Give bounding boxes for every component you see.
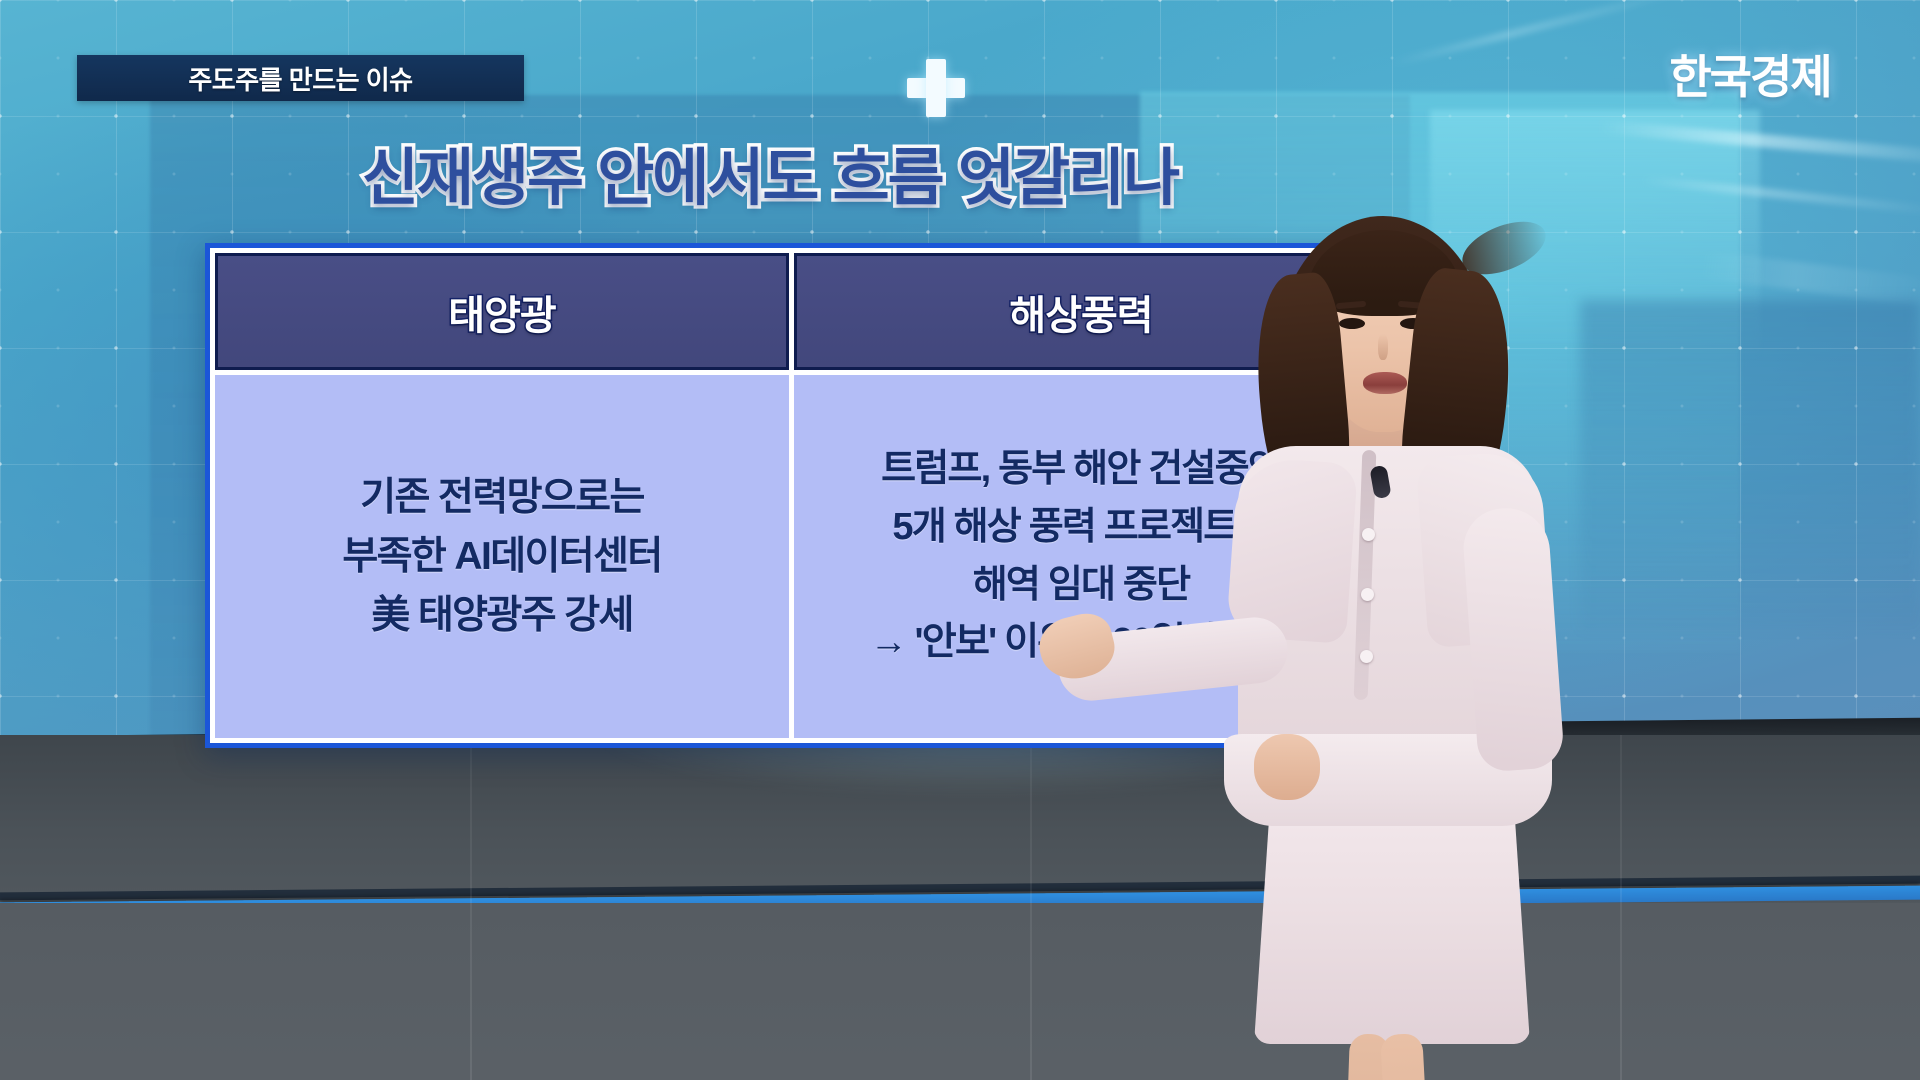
channel-logo: 한국경제 [1640,44,1860,104]
presenter-shoulder [1226,456,1358,644]
presenter-jacket-button [1362,528,1375,541]
floor-seam [470,735,472,1080]
topic-banner-label: 주도주를 만드는 이슈 [188,60,412,97]
column-header-offshore-wind-label: 해상풍력 [1009,283,1152,341]
presenter-arm-right [1461,505,1565,772]
column-header-solar: 태양광 [215,253,789,370]
floor-seam [1030,735,1032,1080]
plus-icon-vertical [926,59,946,117]
column-header-solar-label: 태양광 [448,283,555,341]
presenter-jacket-button [1361,588,1374,601]
column-body-solar: 기존 전력망으로는 부족한 AI데이터센터 美 태양광주 강세 [215,375,789,738]
presenter-skirt [1254,796,1530,1044]
presenter-jacket-button [1360,650,1373,663]
body-line: 기존 전력망으로는 [360,468,643,527]
presenter-mouth [1363,372,1407,394]
topic-banner: 주도주를 만드는 이슈 [77,55,524,101]
floor-foreground [0,903,1920,1080]
channel-logo-label: 한국경제 [1669,41,1830,107]
news-presenter [1150,178,1630,1080]
presenter-eye [1339,318,1365,329]
presenter-nose [1378,334,1388,360]
body-line: 美 태양광주 강세 [371,586,633,645]
broadcast-stage: 주도주를 만드는 이슈 한국경제 신재생주 안에서도 흐름 엇갈리나 태양광 해… [0,0,1920,1080]
plus-icon [907,59,965,117]
headline-text: 신재생주 안에서도 흐름 엇갈리나 [362,127,1178,217]
body-line: 부족한 AI데이터센터 [342,527,661,586]
presenter-hand-right [1254,734,1320,800]
